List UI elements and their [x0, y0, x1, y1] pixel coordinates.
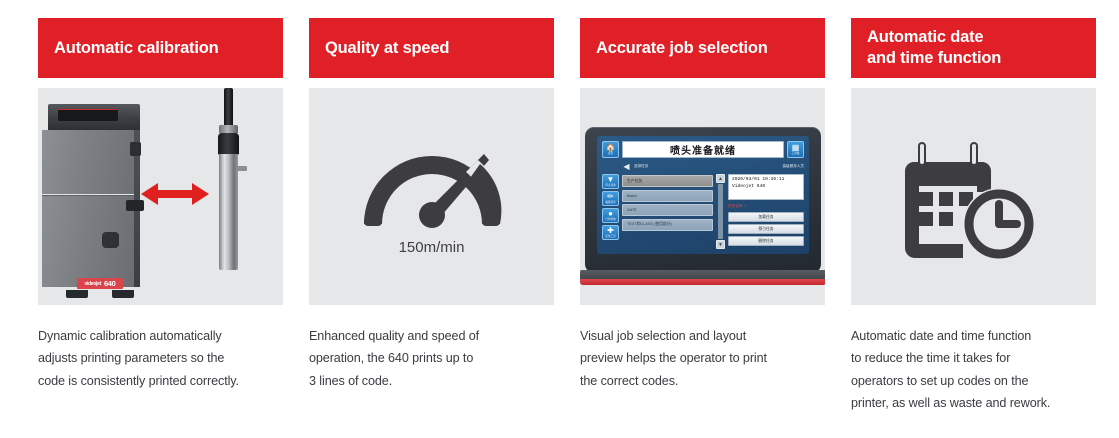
hmi-stage: 🏠 主页 喷头准备就绪 ▦ 工具箱 ◀ 选择任务	[580, 88, 825, 305]
status-icon: ●	[608, 210, 613, 218]
hmi-side-rail: ▼ 停止清洗 ✏ 编辑任务 ● 打印状态	[602, 174, 619, 249]
hmi-rail-label: 停止清洗	[605, 185, 615, 188]
card-header: Accurate job selection	[580, 18, 825, 78]
hmi-breadcrumb-row: ◀ 选择任务 高级服务人员	[602, 161, 804, 171]
printer-logo: videojet 640	[77, 278, 123, 289]
cabinet-lower-panel	[42, 195, 134, 287]
printer-scene: videojet 640	[38, 88, 283, 305]
hmi-status-title: 喷头准备就绪	[622, 141, 784, 158]
hmi-rail-label: 打印状态	[605, 219, 615, 222]
card-title: Accurate job selection	[596, 38, 768, 59]
card-quality-at-speed: Quality at speed 150m/min En	[309, 18, 554, 438]
hmi-toolbox-button[interactable]: ▦ 工具箱	[787, 141, 804, 158]
caret-up-icon[interactable]: ▲	[716, 174, 725, 183]
calendar-wrap	[851, 88, 1096, 305]
calendar-clock-icon	[903, 126, 1045, 267]
printhead-icon: ▼	[607, 176, 615, 184]
card-automatic-date-and-time: Automatic date and time function	[851, 18, 1096, 438]
gauge-value-label: 150m/min	[399, 239, 465, 256]
hmi-preview-line: Videojet 640	[732, 184, 800, 191]
card-title: Automatic calibration	[54, 38, 219, 59]
hmi-right-pane: 2020/03/01 10:36:11 Videojet 640 任务名称: 1…	[728, 174, 804, 249]
card-media-gauge: 150m/min	[309, 88, 554, 305]
hmi-rail-label: 定位工具	[605, 236, 615, 239]
hmi-toolbox-label: 工具箱	[792, 153, 800, 156]
hmi-rail-label: 编辑任务	[605, 202, 615, 205]
hmi-breadcrumb-label: 选择任务	[634, 164, 648, 169]
back-arrow-icon[interactable]: ◀	[622, 162, 631, 171]
grid-icon: ▦	[792, 144, 800, 152]
printer-cabinet: videojet 640	[42, 104, 140, 296]
cabinet-foot-right	[112, 290, 134, 298]
card-title: Quality at speed	[325, 38, 449, 59]
hmi-top-row: 🏠 主页 喷头准备就绪 ▦ 工具箱	[602, 141, 804, 158]
hmi-rail-button-printhead[interactable]: ▼ 停止清洗	[602, 174, 619, 189]
card-caption: Enhanced quality and speed of operation,…	[309, 325, 554, 392]
printhead	[206, 88, 252, 288]
hmi-job-preview: 2020/03/01 10:36:11 Videojet 640	[728, 174, 804, 200]
hmi-job-row[interactable]: DATE	[622, 204, 713, 216]
card-header: Automatic calibration	[38, 18, 283, 78]
hmi-home-label: 主页	[608, 153, 613, 156]
hmi-rail-button-status[interactable]: ● 打印状态	[602, 208, 619, 223]
hmi-preview-label: 任务名称: 1	[728, 204, 804, 209]
card-header: Automatic date and time function	[851, 18, 1096, 78]
feature-cards-board: Automatic calibration videojet	[0, 0, 1119, 438]
hmi-job-list[interactable]: 生产任务 Batch DATE TEXT和CLASS (使用部分)	[622, 174, 713, 249]
hmi-screen[interactable]: 🏠 主页 喷头准备就绪 ▦ 工具箱 ◀ 选择任务	[597, 136, 809, 254]
hmi-rail-button-edit-job[interactable]: ✏ 编辑任务	[602, 191, 619, 206]
printhead-collar	[218, 133, 239, 155]
hmi-action-load-job[interactable]: 加载任务	[728, 212, 804, 222]
printhead-pin	[237, 166, 247, 171]
cabinet-display	[58, 109, 118, 121]
printhead-body	[219, 154, 238, 270]
home-icon: 🏠	[606, 144, 616, 152]
hmi-red-strip	[580, 279, 825, 285]
card-header: Quality at speed	[309, 18, 554, 78]
card-caption: Visual job selection and layout preview …	[580, 325, 825, 392]
hmi-action-buttons: 加载任务 预引任务 删除任务	[728, 212, 804, 246]
cabinet-latch-upper	[130, 142, 141, 156]
speedometer-icon	[358, 138, 506, 235]
gauge-wrap: 150m/min	[309, 88, 554, 305]
hmi-scroll-track[interactable]	[718, 184, 723, 239]
cabinet-foot-left	[66, 290, 88, 298]
hmi-job-row[interactable]: 生产任务	[622, 175, 713, 187]
cabinet-top	[48, 104, 140, 130]
card-automatic-calibration: Automatic calibration videojet	[38, 18, 283, 438]
hmi-rail-button-move[interactable]: ✚ 定位工具	[602, 225, 619, 240]
hmi-scrollbar[interactable]: ▲ ▼	[716, 174, 725, 249]
printhead-cable	[224, 88, 233, 128]
printer-logo-brand: videojet	[84, 281, 101, 287]
hmi-body: ▼ 停止清洗 ✏ 编辑任务 ● 打印状态	[602, 174, 804, 249]
card-title: Automatic date and time function	[867, 27, 1001, 68]
hmi-bezel: 🏠 主页 喷头准备就绪 ▦ 工具箱 ◀ 选择任务	[585, 127, 821, 273]
card-caption: Dynamic calibration automatically adjust…	[38, 325, 283, 392]
cabinet-upper-panel	[42, 130, 134, 194]
card-accurate-job-selection: Accurate job selection 🏠 主页 喷头准备就绪 ▦	[580, 18, 825, 438]
hmi-job-row[interactable]: TEXT和CLASS (使用部分)	[622, 219, 713, 231]
hmi-user-role: 高级服务人员	[782, 164, 804, 169]
card-media-printer: videojet 640	[38, 88, 283, 305]
card-media-calendar	[851, 88, 1096, 305]
double-arrow-horizontal-icon	[141, 181, 209, 207]
caret-down-icon[interactable]: ▼	[716, 240, 725, 249]
cabinet-knob	[102, 232, 119, 248]
hmi-preview-line: 2020/03/01 10:36:11	[732, 177, 800, 184]
hmi-action-delete-job[interactable]: 删除任务	[728, 236, 804, 246]
hmi-home-button[interactable]: 🏠 主页	[602, 141, 619, 158]
printer-logo-model: 640	[104, 279, 116, 288]
card-media-hmi: 🏠 主页 喷头准备就绪 ▦ 工具箱 ◀ 选择任务	[580, 88, 825, 305]
hmi-job-row[interactable]: Batch	[622, 190, 713, 202]
card-caption: Automatic date and time function to redu…	[851, 325, 1096, 415]
hmi-action-preview-job[interactable]: 预引任务	[728, 224, 804, 234]
edit-job-icon: ✏	[607, 193, 614, 201]
move-icon: ✚	[607, 227, 614, 235]
